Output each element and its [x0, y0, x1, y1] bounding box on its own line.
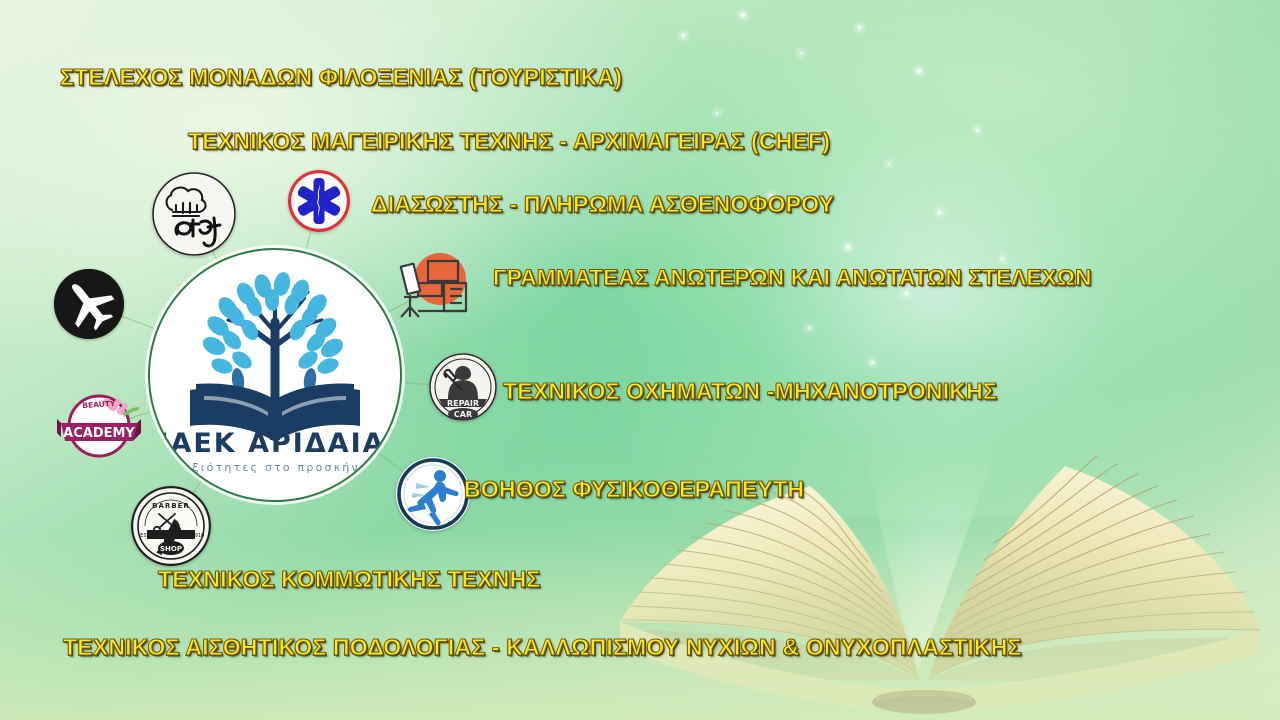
barber-shop-badge[interactable]: BARBER EST 1910 SHOP [131, 486, 211, 566]
beauty-badge-main-text: ACADEMY [63, 426, 135, 441]
mechanic-badge-line2: CAR [454, 410, 472, 419]
specialty-label-chef: ΤΕΧΝΙΚΟΣ ΜΑΓΕΙΡΙΚΗΣ ΤΕΧΝΗΣ - ΑΡΧΙΜΑΓΕΙΡΑ… [188, 128, 830, 155]
office-desk-icon[interactable] [392, 249, 472, 329]
specialty-label-physio: ΒΟΗΘΟΣ ΦΥΣΙΚΟΘΕΡΑΠΕΥΤΗ [464, 476, 804, 503]
specialty-label-secretary: ΓΡΑΜΜΑΤΕΑΣ ΑΝΩΤΕΡΩΝ ΚΑΙ ΑΝΩΤΑΤΩΝ ΣΤΕΛΕΧΩ… [493, 265, 1092, 291]
airplane-icon[interactable] [54, 269, 124, 339]
barber-badge-bottom-text: SHOP [160, 545, 182, 553]
running-figure-icon[interactable] [396, 457, 470, 531]
star-of-life-icon[interactable] [288, 170, 350, 232]
beauty-academy-badge[interactable]: BEAUTY ACADEMY [57, 393, 141, 463]
barber-badge-right-text: 1910 [192, 533, 205, 539]
saek-aridaias-logo: ΣΑΕΚ ΑΡΙΔΑΙΑΣ δεξιότητες στο προσκήνιο [148, 248, 402, 502]
logo-title: ΣΑΕΚ ΑΡΙΔΑΙΑΣ [150, 428, 400, 459]
car-repair-badge[interactable]: REPAIR CAR [429, 353, 497, 421]
specialty-label-mechatronics: ΤΕΧΝΙΚΟΣ ΟΧΗΜΑΤΩΝ -ΜΗΧΑΝΟΤΡΟΝΙΚΗΣ [503, 378, 997, 405]
specialty-label-podology: ΤΕΧΝΙΚΟΣ ΑΙΣΘΗΤΙΚΟΣ ΠΟΔΟΛΟΓΙΑΣ - ΚΑΛΛΩΠΙ… [63, 634, 1022, 661]
specialty-label-hairdressing: ΤΕΧΝΙΚΟΣ ΚΟΜΜΩΤΙΚΗΣ ΤΕΧΝΗΣ [158, 566, 540, 593]
specialty-label-ems: ΔΙΑΣΩΣΤΗΣ - ΠΛΗΡΩΜΑ ΑΣΘΕΝΟΦΟΡΟΥ [371, 191, 834, 218]
barber-badge-top-text: BARBER [152, 502, 190, 510]
mechanic-badge-line1: REPAIR [447, 399, 479, 408]
barber-badge-left-text: EST [140, 533, 150, 539]
specialty-label-hospitality: ΣΤΕΛΕΧΟΣ ΜΟΝΑΔΩΝ ΦΙΛΟΞΕΝΙΑΣ (ΤΟΥΡΙΣΤΙΚΑ) [60, 64, 622, 91]
logo-subtitle: δεξιότητες στο προσκήνιο [150, 461, 400, 474]
poster-canvas: ΣΑΕΚ ΑΡΙΔΑΙΑΣ δεξιότητες στο προσκήνιο [0, 0, 1280, 720]
chef-hat-icon[interactable] [152, 172, 236, 256]
